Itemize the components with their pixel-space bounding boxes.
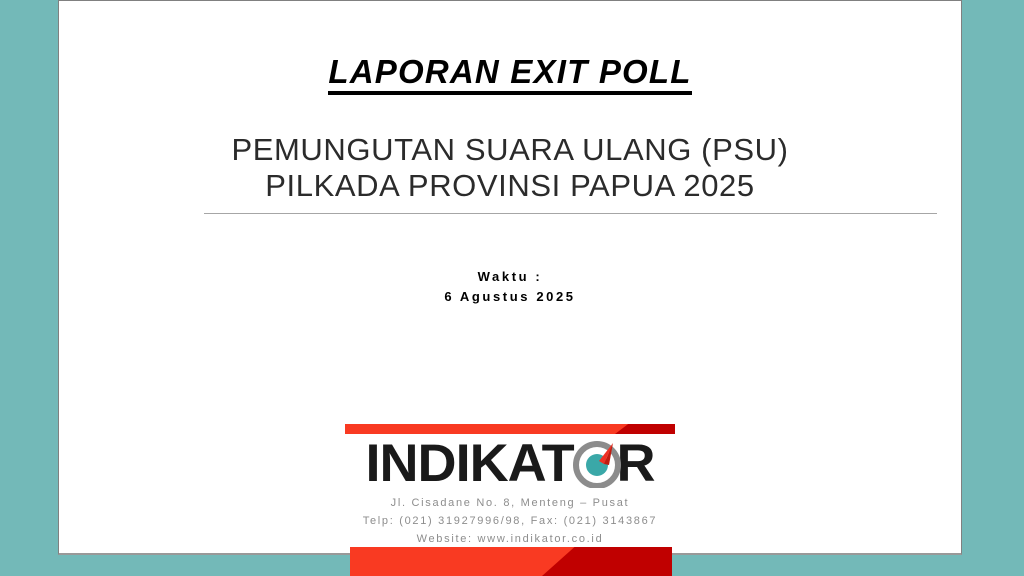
logo-top-red-bar: [345, 424, 675, 434]
logo-bar-dark-tip: [615, 424, 675, 434]
page-title-text: LAPORAN EXIT POLL: [328, 55, 691, 95]
target-compass-icon: [573, 440, 621, 488]
bottom-banner-dark-segment: [542, 547, 672, 576]
title-divider-rule: [204, 213, 937, 214]
page-title: LAPORAN EXIT POLL: [59, 55, 961, 95]
page-subtitle-line-2: PILKADA PROVINSI PAPUA 2025: [59, 168, 961, 204]
logo-address-line-1: Jl. Cisadane No. 8, Menteng – Pusat: [59, 494, 961, 512]
logo-address-line-3: Website: www.indikator.co.id: [59, 530, 961, 548]
page-subtitle-line-1: PEMUNGUTAN SUARA ULANG (PSU): [59, 132, 961, 168]
bottom-red-banner: [350, 547, 672, 576]
logo-wordmark-text: INDIKATR: [342, 438, 679, 490]
logo-wordmark-prefix: INDIKAT: [366, 434, 574, 493]
logo-address-line-2: Telp: (021) 31927996/98, Fax: (021) 3143…: [59, 512, 961, 530]
page-subtitle: PEMUNGUTAN SUARA ULANG (PSU) PILKADA PRO…: [59, 132, 961, 204]
time-label: Waktu :: [59, 267, 961, 287]
presentation-slide: LAPORAN EXIT POLL PEMUNGUTAN SUARA ULANG…: [0, 0, 1024, 576]
time-block: Waktu : 6 Agustus 2025: [59, 267, 961, 307]
slide-content-panel: LAPORAN EXIT POLL PEMUNGUTAN SUARA ULANG…: [58, 0, 962, 555]
logo-address-block: Jl. Cisadane No. 8, Menteng – Pusat Telp…: [59, 494, 961, 548]
organization-logo: INDIKATR Jl. Cisadane No. 8, Menteng – P…: [59, 424, 961, 548]
logo-wordmark: INDIKATR: [345, 438, 675, 490]
time-value: 6 Agustus 2025: [59, 287, 961, 307]
logo-wordmark-suffix: R: [616, 434, 654, 493]
